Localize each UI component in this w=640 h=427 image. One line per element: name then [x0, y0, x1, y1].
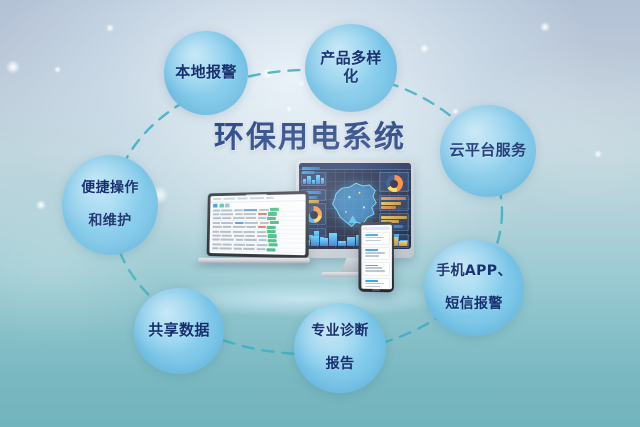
phone-list-item [362, 277, 390, 289]
node-local-alarm[interactable]: 本地报警 [164, 31, 248, 115]
laptop-lid [207, 191, 309, 259]
smartphone [358, 222, 393, 293]
node-label: 云平台服务 [441, 142, 534, 160]
node-label: 手机APP、 短信报警 [428, 263, 520, 313]
phone-app-bar [362, 227, 390, 230]
phone-home-indicator [372, 289, 380, 291]
laptop-screen [209, 194, 305, 255]
node-label: 便捷操作 和维护 [73, 180, 147, 230]
donut-chart-mini [386, 175, 403, 192]
phone-list-item [362, 262, 390, 276]
node-cloud-platform[interactable]: 云平台服务 [440, 105, 536, 197]
node-label: 本地报警 [167, 64, 245, 82]
node-app-sms-alarm[interactable]: 手机APP、 短信报警 [424, 240, 524, 336]
phone-list-item [362, 247, 390, 260]
dashboard-card [379, 195, 409, 211]
phone-screen [361, 225, 392, 290]
node-diagnostic-report[interactable]: 专业诊断 报告 [294, 303, 386, 393]
desktop-monitor [296, 160, 414, 258]
poster-canvas: 环保用电系统 [0, 0, 640, 427]
page-title: 环保用电系统 [214, 112, 444, 156]
node-shared-data[interactable]: 共享数据 [134, 288, 224, 374]
node-label: 专业诊断 报告 [303, 323, 377, 373]
node-product-diversity[interactable]: 产品多样化 [305, 24, 397, 112]
node-label: 产品多样化 [305, 50, 397, 85]
node-easy-maintenance[interactable]: 便捷操作 和维护 [62, 155, 158, 255]
node-label: 共享数据 [140, 322, 218, 340]
laptop [198, 192, 310, 272]
device-cluster [180, 160, 430, 310]
table-row [209, 247, 305, 253]
monitor-screen [299, 163, 411, 249]
monitor-bezel [296, 160, 414, 258]
dashboard-center-stats [301, 165, 319, 176]
dashboard-card [379, 172, 409, 192]
phone-list-item [362, 231, 390, 245]
laptop-base [197, 258, 310, 264]
